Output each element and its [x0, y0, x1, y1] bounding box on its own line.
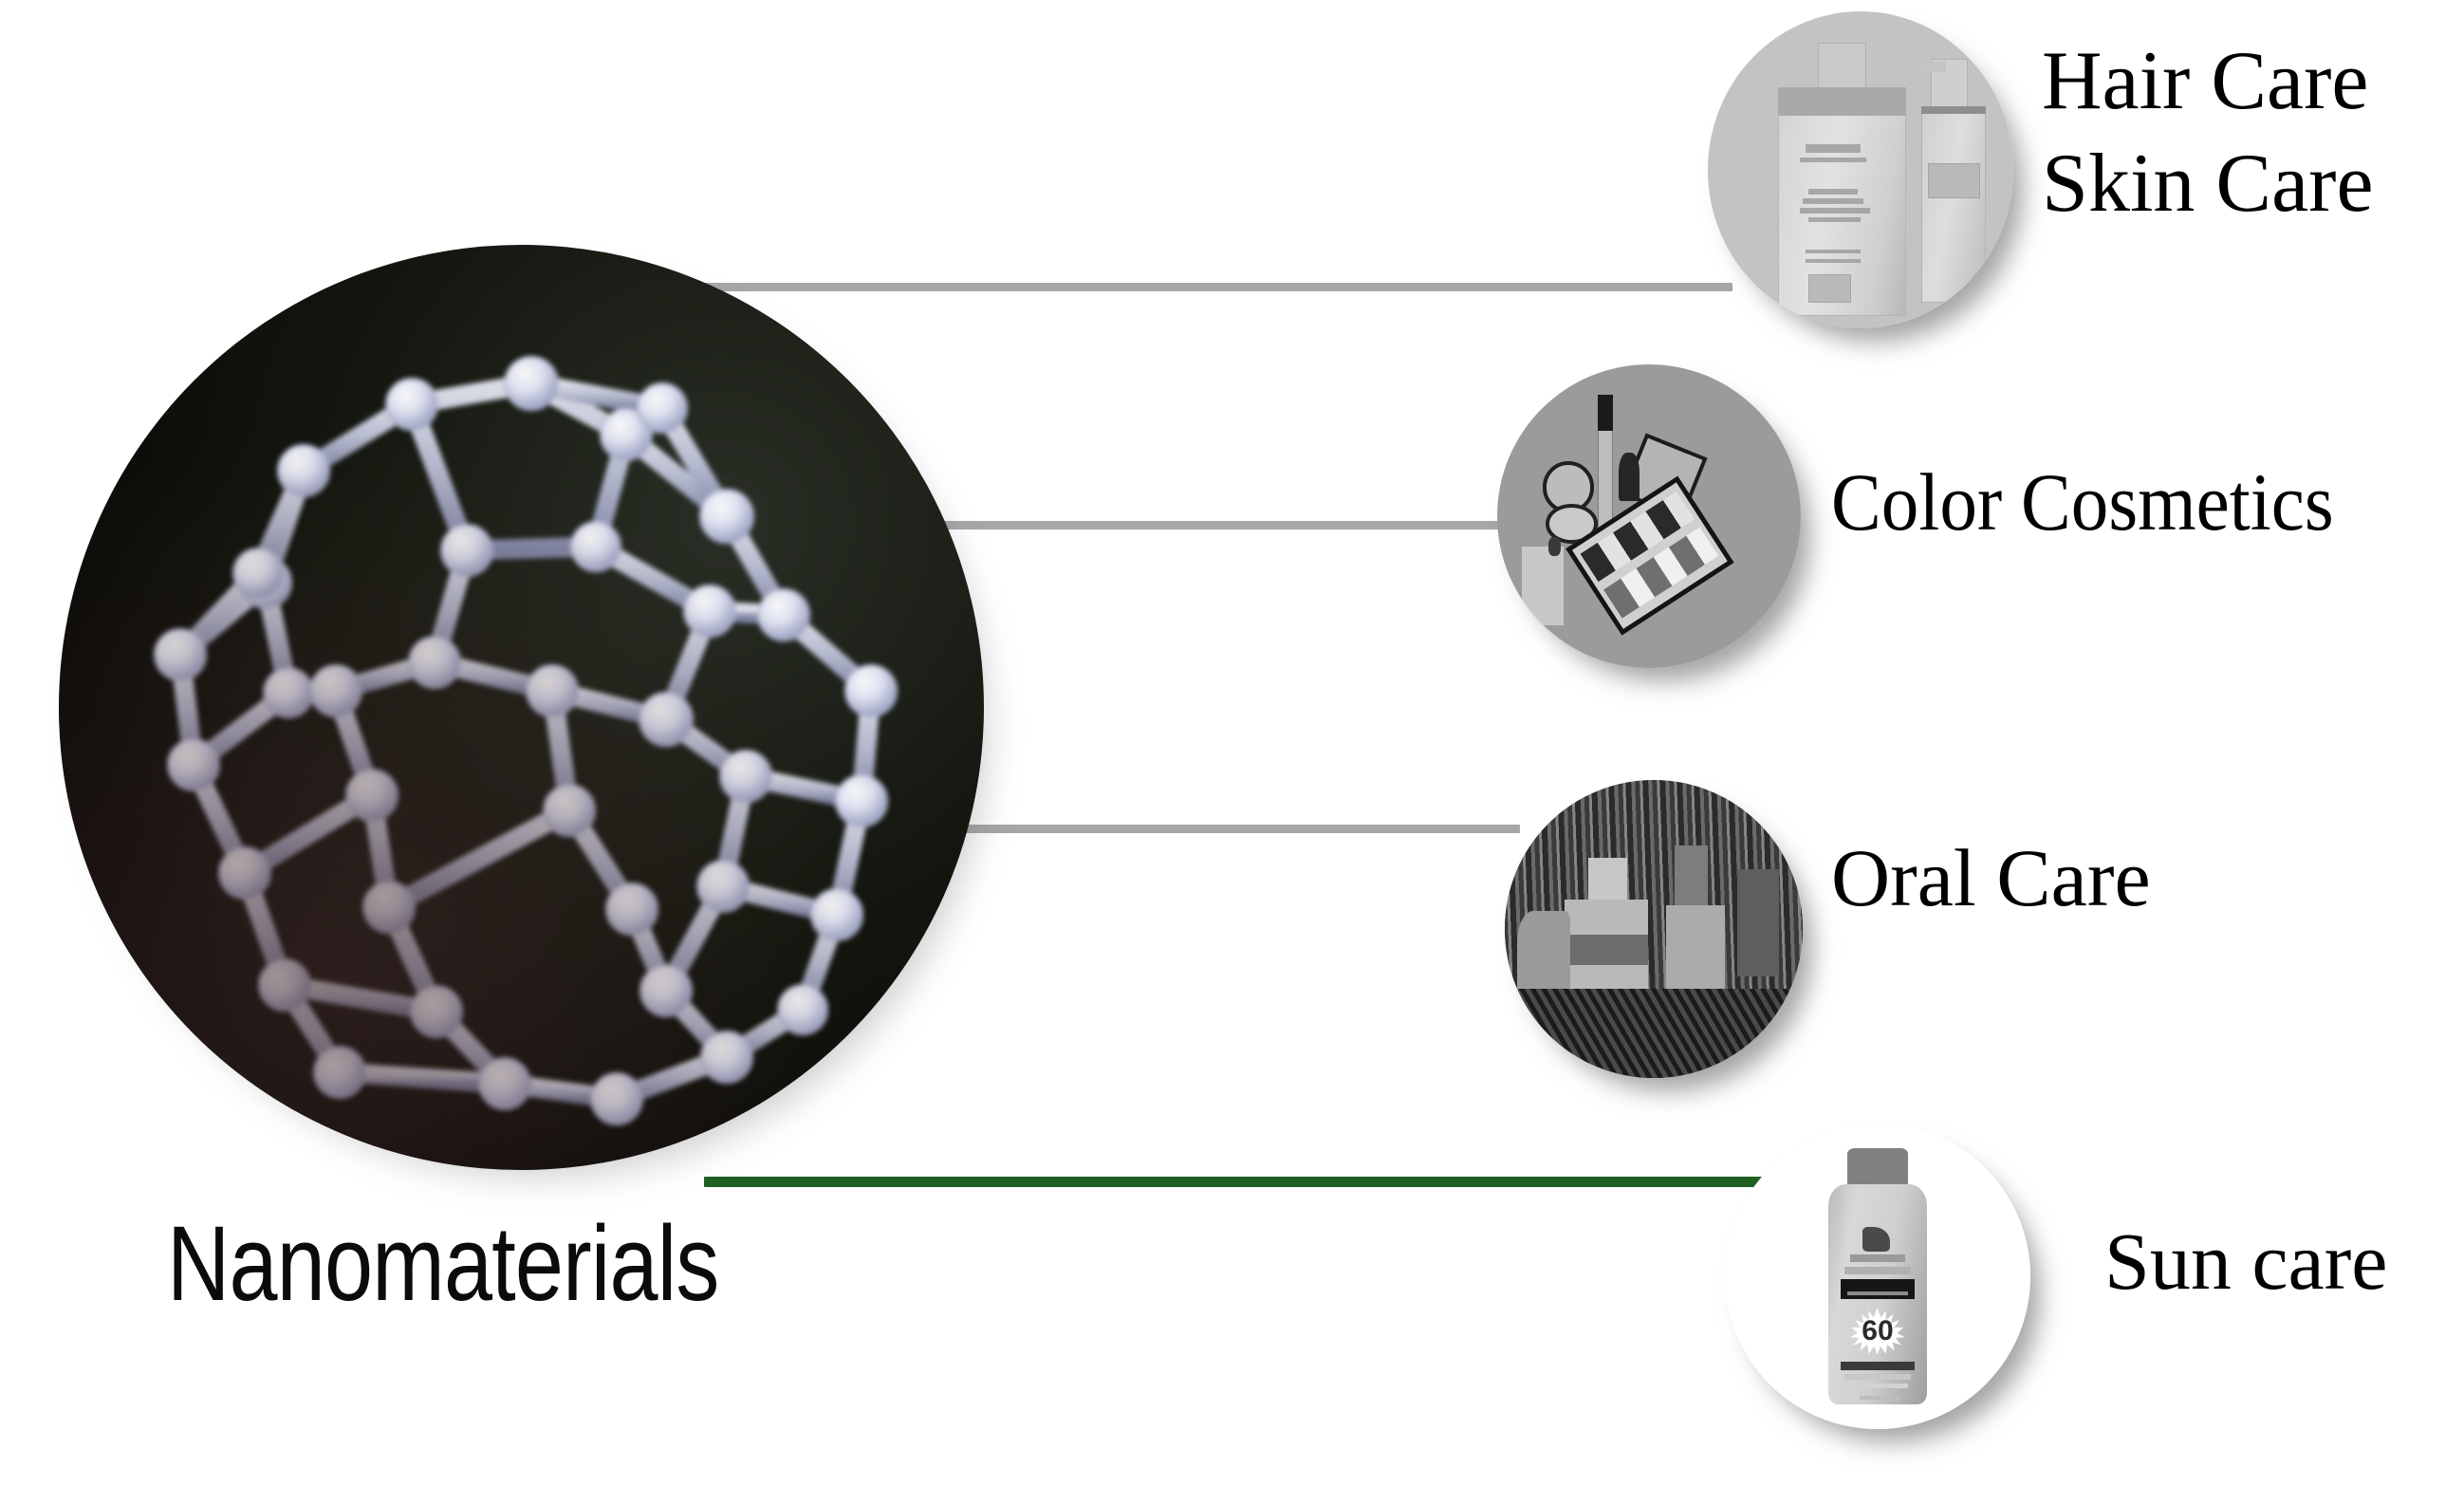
color-cosmetics-label-wrap: Color Cosmetics: [1831, 459, 2334, 545]
spf-value: 60: [1841, 1307, 1914, 1356]
mouthwash-bottles-icon: [1505, 780, 1803, 1078]
branch-sun-care[interactable]: 60 Sun care: [1725, 1124, 2464, 1437]
label-sun-care: Sun care: [2104, 1216, 2387, 1307]
hair-skin-care-image: [1708, 11, 2013, 328]
spf-sunburst-badge: 60: [1841, 1307, 1914, 1356]
hair-skin-care-labels: Hair Care Skin Care: [2042, 38, 2374, 229]
label-color-cosmetics: Color Cosmetics: [1831, 456, 2334, 548]
label-skin-care: Skin Care: [2042, 140, 2374, 228]
diagram-canvas: Nanomaterials: [0, 0, 2464, 1486]
sun-care-label-wrap: Sun care: [2104, 1218, 2387, 1304]
branch-hair-skin-care[interactable]: Hair Care Skin Care: [1708, 11, 2464, 334]
oral-care-image: [1505, 780, 1803, 1078]
makeup-palette-icon: [1497, 364, 1801, 668]
branch-color-cosmetics[interactable]: Color Cosmetics: [1497, 364, 2464, 678]
shampoo-bottles-icon: [1708, 11, 2013, 328]
color-cosmetics-image: [1497, 364, 1801, 668]
connector-line-oral-care: [932, 825, 1520, 833]
fullerene-structure-svg: [59, 245, 984, 1170]
label-oral-care: Oral Care: [1831, 832, 2151, 923]
fullerene-buckyball-icon: [59, 245, 984, 1170]
sunscreen-bottle-icon: 60: [1725, 1124, 2030, 1429]
label-hair-care: Hair Care: [2042, 38, 2374, 125]
branch-oral-care[interactable]: Oral Care: [1505, 780, 2454, 1088]
nanomaterials-label: Nanomaterials: [167, 1211, 718, 1317]
connector-line-color-cosmetics: [932, 521, 1520, 529]
nanomaterials-node: [59, 245, 1008, 1194]
sun-care-image: 60: [1725, 1124, 2030, 1429]
oral-care-label-wrap: Oral Care: [1831, 835, 2151, 920]
